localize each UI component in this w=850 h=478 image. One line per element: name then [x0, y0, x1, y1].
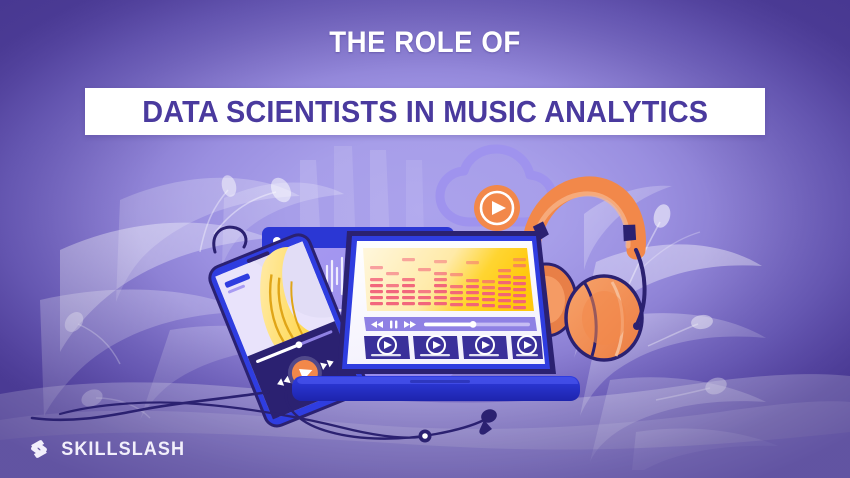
phone-cable	[214, 227, 246, 252]
video-card[interactable]	[364, 336, 410, 359]
video-card[interactable]	[462, 336, 508, 359]
video-card[interactable]	[511, 336, 543, 359]
brand-logo[interactable]: SKILLSLASH	[28, 438, 188, 460]
music-analytics-illustration	[0, 0, 850, 478]
slash-s-icon	[28, 438, 50, 460]
illustration-layer	[0, 0, 850, 478]
banner-canvas: THE ROLE OF DATA SCIENTISTS IN MUSIC ANA…	[0, 0, 850, 478]
headline-block: THE ROLE OF	[0, 28, 850, 58]
video-thumbnail-grid[interactable]	[364, 336, 543, 359]
logo-wordmark: SKILLSLASH	[61, 440, 185, 459]
page-title: DATA SCIENTISTS IN MUSIC ANALYTICS	[142, 96, 708, 127]
transport-control-bar[interactable]	[364, 317, 537, 331]
video-card[interactable]	[413, 336, 459, 359]
earbud	[419, 430, 432, 443]
equalizer-spectrum-panel	[363, 248, 534, 311]
headline-kicker: THE ROLE OF	[34, 28, 816, 58]
title-band: DATA SCIENTISTS IN MUSIC ANALYTICS	[85, 88, 765, 135]
